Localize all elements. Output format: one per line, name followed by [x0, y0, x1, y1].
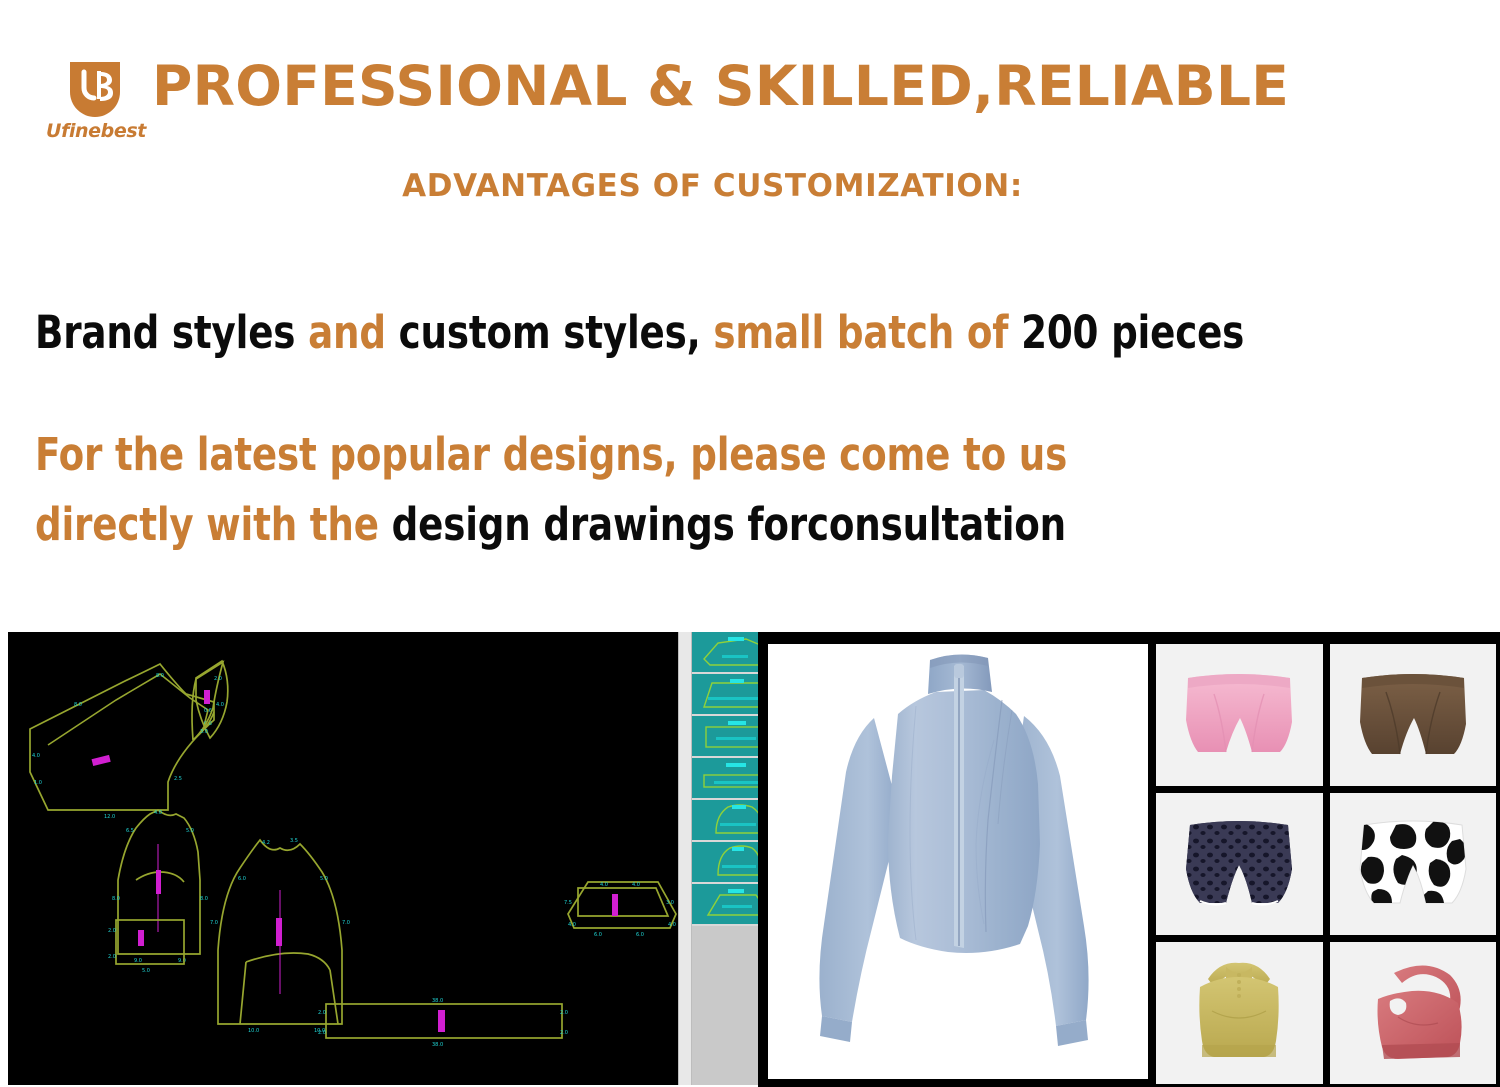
panel-divider-scrollbar[interactable] — [678, 632, 692, 1085]
svg-text:9.0: 9.0 — [134, 958, 142, 964]
svg-text:4.0: 4.0 — [216, 702, 224, 708]
copy-line-1-seg-5: 200 pieces — [1021, 306, 1244, 359]
svg-text:5.0: 5.0 — [142, 968, 150, 974]
svg-text:7.0: 7.0 — [210, 920, 218, 926]
copy-line-1-seg-4: small batch of — [713, 306, 1021, 359]
svg-text:8.0: 8.0 — [112, 896, 120, 902]
svg-text:4.0: 4.0 — [154, 810, 162, 816]
svg-text:2.0: 2.0 — [318, 1010, 326, 1016]
svg-text:2.0: 2.0 — [560, 1030, 568, 1036]
svg-text:12.0: 12.0 — [104, 814, 115, 820]
brand-wordmark: Ufinebest — [42, 120, 150, 142]
navy-leopard-print-shorts — [1156, 793, 1323, 935]
olive-racerback-sports-bra — [1156, 942, 1323, 1084]
svg-text:4.0: 4.0 — [600, 882, 608, 888]
brand-logo: Ufinebest — [42, 58, 150, 150]
svg-text:2.5: 2.5 — [174, 776, 182, 782]
svg-text:4.0: 4.0 — [668, 922, 676, 928]
image-strip: 8.08.0 0.60.6 4.01.0 12.02.5 2.04.03.0 — [0, 630, 1500, 1087]
svg-text:4.0: 4.0 — [32, 753, 40, 759]
svg-text:3.0: 3.0 — [666, 900, 674, 906]
svg-text:5.0: 5.0 — [186, 828, 194, 834]
page-subheadline: ADVANTAGES OF CUSTOMIZATION: — [0, 168, 1425, 204]
copy-line-3-seg-1: directly with the — [35, 498, 392, 551]
ufinebest-u-b-monogram-icon — [64, 58, 126, 120]
marketing-copy: Brand styles and custom styles, small ba… — [0, 300, 1500, 570]
cow-print-shorts — [1330, 793, 1497, 935]
copy-line-3: directly with the design drawings forcon… — [35, 502, 1066, 547]
svg-text:2.0: 2.0 — [108, 928, 116, 934]
copy-line-1: Brand styles and custom styles, small ba… — [35, 310, 1244, 355]
page-headline: PROFESSIONAL & SKILLED,RELIABLE — [152, 57, 1289, 116]
copy-line-1-seg-3: custom styles, — [399, 306, 714, 359]
svg-text:4.0: 4.0 — [632, 882, 640, 888]
copy-line-2-seg-1: For the latest popular designs, please c… — [35, 428, 1067, 481]
svg-text:5.0: 5.0 — [320, 876, 328, 882]
svg-text:7.0: 7.0 — [342, 920, 350, 926]
copy-line-1-seg-1: Brand styles — [35, 306, 308, 359]
svg-text:10.0: 10.0 — [248, 1028, 259, 1034]
svg-text:2.0: 2.0 — [108, 954, 116, 960]
coral-sports-bra — [1330, 942, 1497, 1084]
copy-line-1-seg-2: and — [308, 306, 399, 359]
svg-text:1.0: 1.0 — [34, 780, 42, 786]
svg-text:4.2: 4.2 — [262, 840, 270, 846]
svg-text:7.5: 7.5 — [564, 900, 572, 906]
copy-line-3-seg-2: design drawings forconsultation — [392, 498, 1066, 551]
svg-text:3.5: 3.5 — [290, 838, 298, 844]
product-showcase — [758, 632, 1500, 1087]
svg-text:2.0: 2.0 — [560, 1010, 568, 1016]
svg-text:8.0: 8.0 — [200, 896, 208, 902]
header-banner: Ufinebest PROFESSIONAL & SKILLED,RELIABL… — [0, 0, 1500, 230]
light-blue-zip-up-sports-jacket — [768, 644, 1148, 1079]
svg-text:38.0: 38.0 — [432, 1042, 443, 1048]
svg-text:8.0: 8.0 — [74, 702, 82, 708]
svg-text:38.0: 38.0 — [432, 998, 443, 1004]
svg-text:3.0: 3.0 — [200, 729, 208, 735]
garment-thumbnail-grid — [1156, 644, 1496, 1084]
svg-text:6.0: 6.0 — [238, 876, 246, 882]
pink-shorts — [1156, 644, 1323, 786]
cad-pattern-making-software-canvas: 8.08.0 0.60.6 4.01.0 12.02.5 2.04.03.0 — [8, 632, 678, 1085]
svg-text:6.5: 6.5 — [126, 828, 134, 834]
copy-line-2: For the latest popular designs, please c… — [35, 432, 1067, 477]
brown-shorts — [1330, 644, 1497, 786]
svg-text:6.0: 6.0 — [594, 932, 602, 938]
svg-text:4.0: 4.0 — [568, 922, 576, 928]
svg-text:8.0: 8.0 — [156, 673, 164, 679]
svg-text:2.0: 2.0 — [318, 1030, 326, 1036]
svg-text:2.0: 2.0 — [214, 676, 222, 682]
svg-text:6.0: 6.0 — [636, 932, 644, 938]
